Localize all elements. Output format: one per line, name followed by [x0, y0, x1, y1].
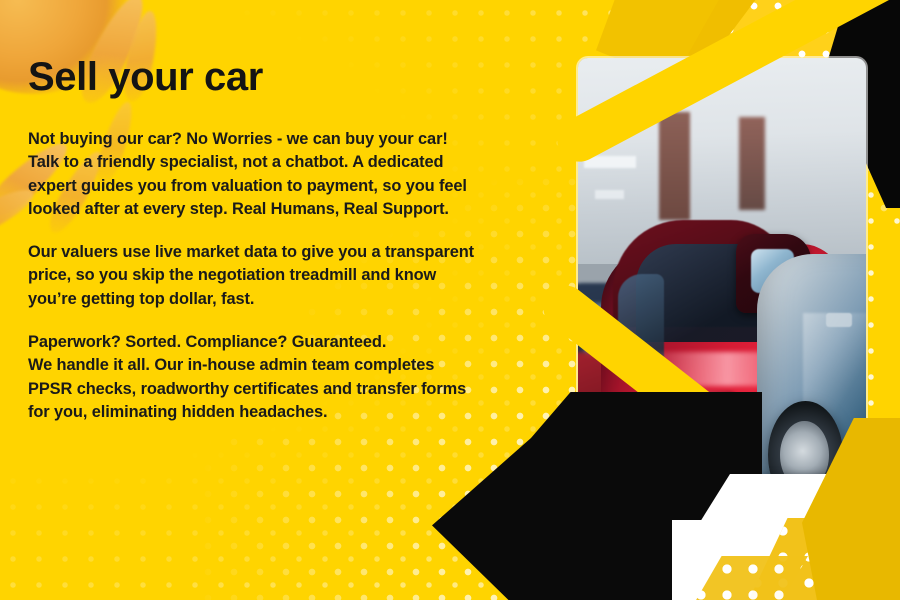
paragraph-intro: Not buying our car? No Worries - we can … — [28, 128, 568, 221]
paragraph-line: PPSR checks, roadworthy certificates and… — [28, 378, 568, 401]
paragraph-line: We handle it all. Our in-house admin tea… — [28, 354, 568, 377]
poster-copy: Sell your car Not buying our car? No Wor… — [28, 56, 568, 424]
showroom-pillar — [659, 112, 691, 220]
right-edge-yellow-band — [874, 230, 900, 440]
page-title: Sell your car — [28, 56, 568, 98]
blue-car-door-handle — [826, 313, 852, 328]
paragraph-line: price, so you skip the negotiation tread… — [28, 264, 568, 287]
paragraph-line: Talk to a friendly specialist, not a cha… — [28, 151, 568, 174]
paragraph-line: Our valuers use live market data to give… — [28, 241, 568, 264]
paragraph-line: you’re getting top dollar, fast. — [28, 288, 568, 311]
paragraph-line: Paperwork? Sorted. Compliance? Guarantee… — [28, 331, 568, 354]
paragraph-paperwork: Paperwork? Sorted. Compliance? Guarantee… — [28, 331, 568, 424]
showroom-pillar — [739, 117, 765, 210]
paragraph-line: looked after at every step. Real Humans,… — [28, 198, 568, 221]
paragraph-line: for you, eliminating hidden headaches. — [28, 401, 568, 424]
paragraph-valuation: Our valuers use live market data to give… — [28, 241, 568, 311]
ceiling-light-strip — [595, 190, 624, 199]
paragraph-line: Not buying our car? No Worries - we can … — [28, 128, 568, 151]
sell-your-car-poster: Sell your car Not buying our car? No Wor… — [0, 0, 900, 600]
paragraph-line: expert guides you from valuation to paym… — [28, 175, 568, 198]
